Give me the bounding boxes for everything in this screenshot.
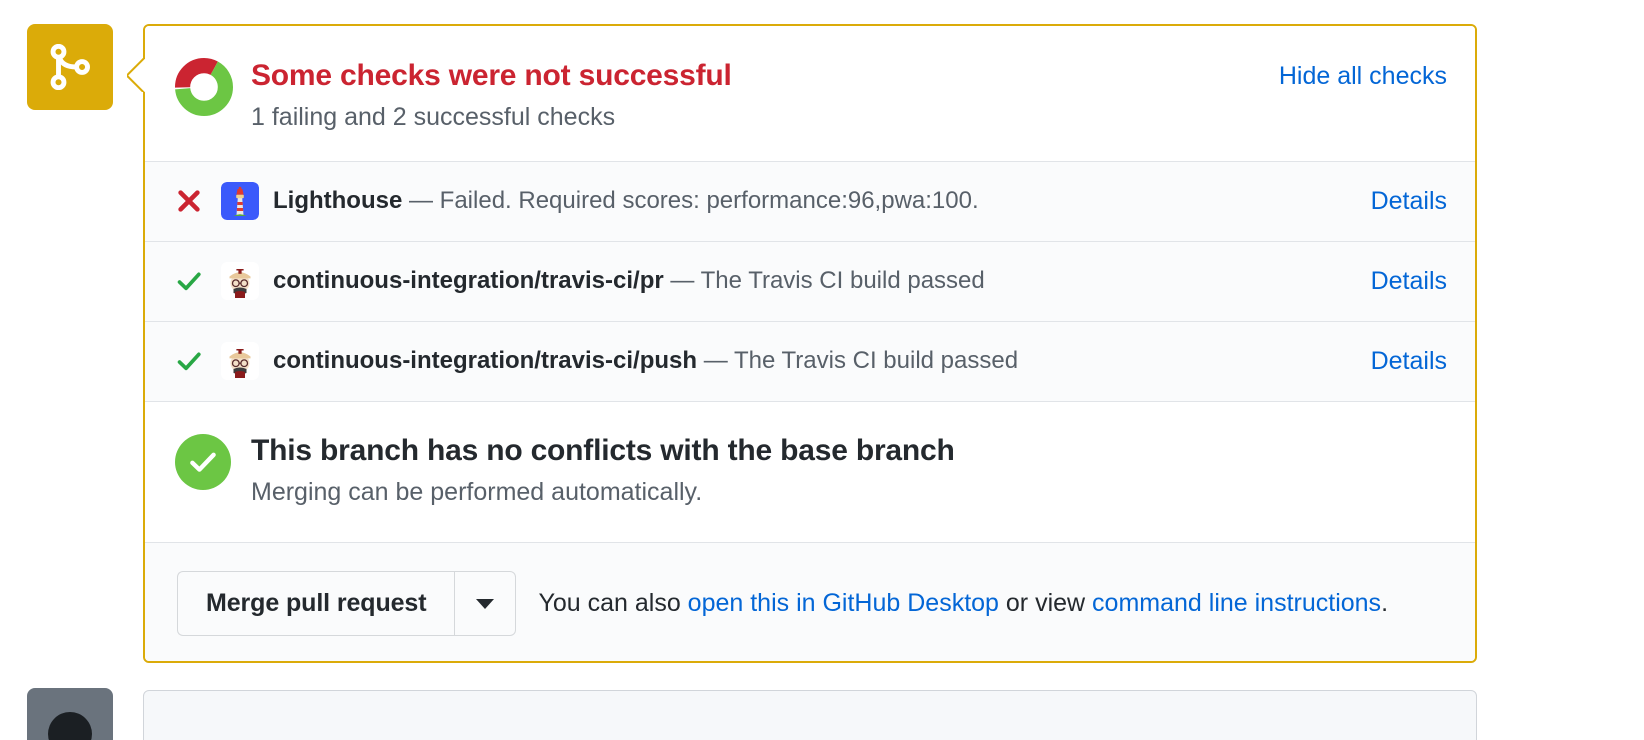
- checks-status-header: Some checks were not successful 1 failin…: [145, 26, 1475, 162]
- merge-conflicts-subtitle: Merging can be performed automatically.: [251, 475, 1447, 510]
- merge-conflicts-title: This branch has no conflicts with the ba…: [251, 432, 1447, 470]
- check-row[interactable]: Lighthouse — Failed. Required scores: pe…: [145, 162, 1475, 242]
- check-details-link[interactable]: Details: [1371, 267, 1447, 296]
- x-icon: [175, 187, 221, 215]
- check-label: continuous-integration/travis-ci/push — …: [273, 345, 1351, 376]
- check-row[interactable]: continuous-integration/travis-ci/push — …: [145, 322, 1475, 402]
- check-name: continuous-integration/travis-ci/push: [273, 347, 697, 374]
- check-row[interactable]: continuous-integration/travis-ci/pr — Th…: [145, 242, 1475, 322]
- check-circle-icon: [175, 434, 231, 490]
- merge-action-bar: Merge pull request You can also open thi…: [145, 543, 1475, 663]
- check-name: continuous-integration/travis-ci/pr: [273, 267, 664, 294]
- check-name: Lighthouse: [273, 187, 402, 214]
- merge-button-group: Merge pull request: [177, 571, 516, 636]
- avatar-head: [48, 712, 92, 740]
- merge-hint-text: You can also open this in GitHub Desktop…: [538, 587, 1388, 620]
- merge-hint-middle: or view: [999, 589, 1092, 617]
- check-description: The Travis CI build passed: [734, 347, 1018, 374]
- merge-conflicts-section: This branch has no conflicts with the ba…: [145, 402, 1475, 544]
- command-line-instructions-link[interactable]: command line instructions: [1092, 589, 1381, 617]
- travis-ci-avatar-icon: [221, 342, 259, 380]
- check-label: continuous-integration/travis-ci/pr — Th…: [273, 265, 1351, 296]
- check-icon: [175, 347, 221, 375]
- chevron-down-icon: [476, 599, 494, 609]
- checks-status-subtitle: 1 failing and 2 successful checks: [251, 100, 1279, 135]
- check-details-link[interactable]: Details: [1371, 187, 1447, 216]
- merge-hint-prefix: You can also: [538, 589, 687, 617]
- travis-ci-avatar-icon: [221, 262, 259, 300]
- open-in-github-desktop-link[interactable]: open this in GitHub Desktop: [688, 589, 999, 617]
- merge-method-dropdown-button[interactable]: [454, 571, 516, 636]
- new-comment-box[interactable]: [143, 690, 1477, 740]
- check-description: Failed. Required scores: performance:96,…: [440, 187, 979, 214]
- timeline-merge-badge: [27, 24, 113, 110]
- merge-hint-suffix: .: [1381, 589, 1388, 617]
- merge-conflicts-text: This branch has no conflicts with the ba…: [251, 432, 1447, 511]
- check-label: Lighthouse — Failed. Required scores: pe…: [273, 185, 1351, 216]
- merge-box: Some checks were not successful 1 failin…: [143, 24, 1477, 663]
- check-separator: —: [670, 267, 694, 294]
- checks-status-title: Some checks were not successful: [251, 57, 1279, 95]
- hide-all-checks-link[interactable]: Hide all checks: [1279, 56, 1447, 91]
- lighthouse-avatar-icon: [221, 182, 259, 220]
- check-separator: —: [409, 187, 433, 214]
- check-details-link[interactable]: Details: [1371, 347, 1447, 376]
- pull-request-merge-box-page: Some checks were not successful 1 failin…: [0, 0, 1644, 740]
- check-icon: [175, 267, 221, 295]
- checks-status-text: Some checks were not successful 1 failin…: [251, 56, 1279, 135]
- merge-pull-request-button[interactable]: Merge pull request: [177, 571, 454, 636]
- avatar[interactable]: [27, 688, 113, 740]
- git-merge-icon: [47, 44, 93, 90]
- check-separator: —: [704, 347, 728, 374]
- merge-box-caret: [127, 58, 145, 92]
- checks-donut-icon: [175, 58, 233, 116]
- check-description: The Travis CI build passed: [701, 267, 985, 294]
